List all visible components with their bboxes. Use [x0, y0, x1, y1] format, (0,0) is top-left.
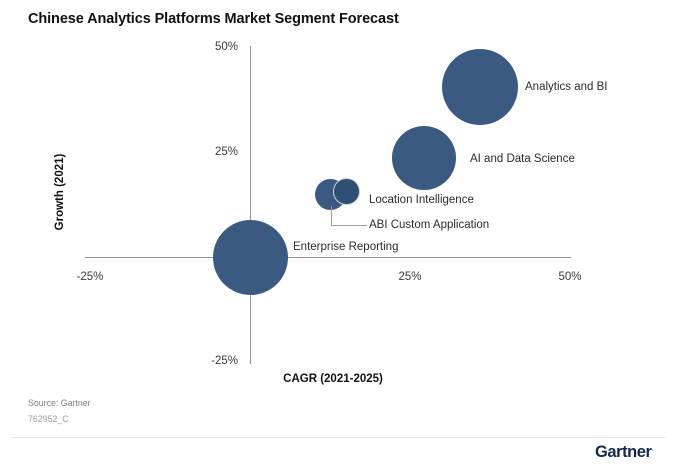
- gartner-logo: Gartner.: [595, 443, 653, 462]
- bubble-enterprise-reporting[interactable]: [213, 220, 288, 295]
- plot-area: 50% 25% 0% -25% -25% 0% 25% 50% Growth (…: [0, 0, 677, 400]
- leader-line-vertical: [331, 206, 332, 226]
- document-id: 762952_C: [28, 414, 69, 424]
- x-tick-label-50: 50%: [542, 271, 598, 283]
- bubble-analytics-and-bi[interactable]: [442, 49, 518, 125]
- bubble-abi-custom-application[interactable]: [333, 178, 360, 205]
- leader-line-horizontal: [331, 225, 367, 226]
- series-label-enterprise-reporting: Enterprise Reporting: [293, 241, 398, 253]
- series-label-analytics-and-bi: Analytics and BI: [525, 81, 607, 93]
- gartner-logo-mark: .: [652, 446, 654, 453]
- chart-slide: Chinese Analytics Platforms Market Segme…: [0, 0, 677, 470]
- x-tick-label-neg25: -25%: [62, 271, 118, 283]
- source-note: Source: Gartner: [28, 398, 91, 408]
- x-axis-title: CAGR (2021-2025): [233, 373, 433, 385]
- series-label-ai-and-data-science: AI and Data Science: [470, 153, 575, 165]
- bubble-ai-and-data-science[interactable]: [392, 126, 456, 190]
- y-tick-label-50: 50%: [160, 41, 238, 53]
- y-tick-label-neg25: -25%: [160, 355, 238, 367]
- series-label-location-intelligence: Location Intelligence: [369, 194, 474, 206]
- footer-divider: [12, 437, 665, 438]
- x-axis-line: [85, 257, 571, 258]
- y-tick-label-25: 25%: [160, 146, 238, 158]
- series-label-abi-custom-application: ABI Custom Application: [369, 219, 489, 231]
- x-tick-label-25: 25%: [382, 271, 438, 283]
- y-axis-line: [250, 46, 251, 364]
- gartner-logo-text: Gartner: [595, 443, 651, 461]
- y-axis-title: Growth (2021): [54, 122, 66, 262]
